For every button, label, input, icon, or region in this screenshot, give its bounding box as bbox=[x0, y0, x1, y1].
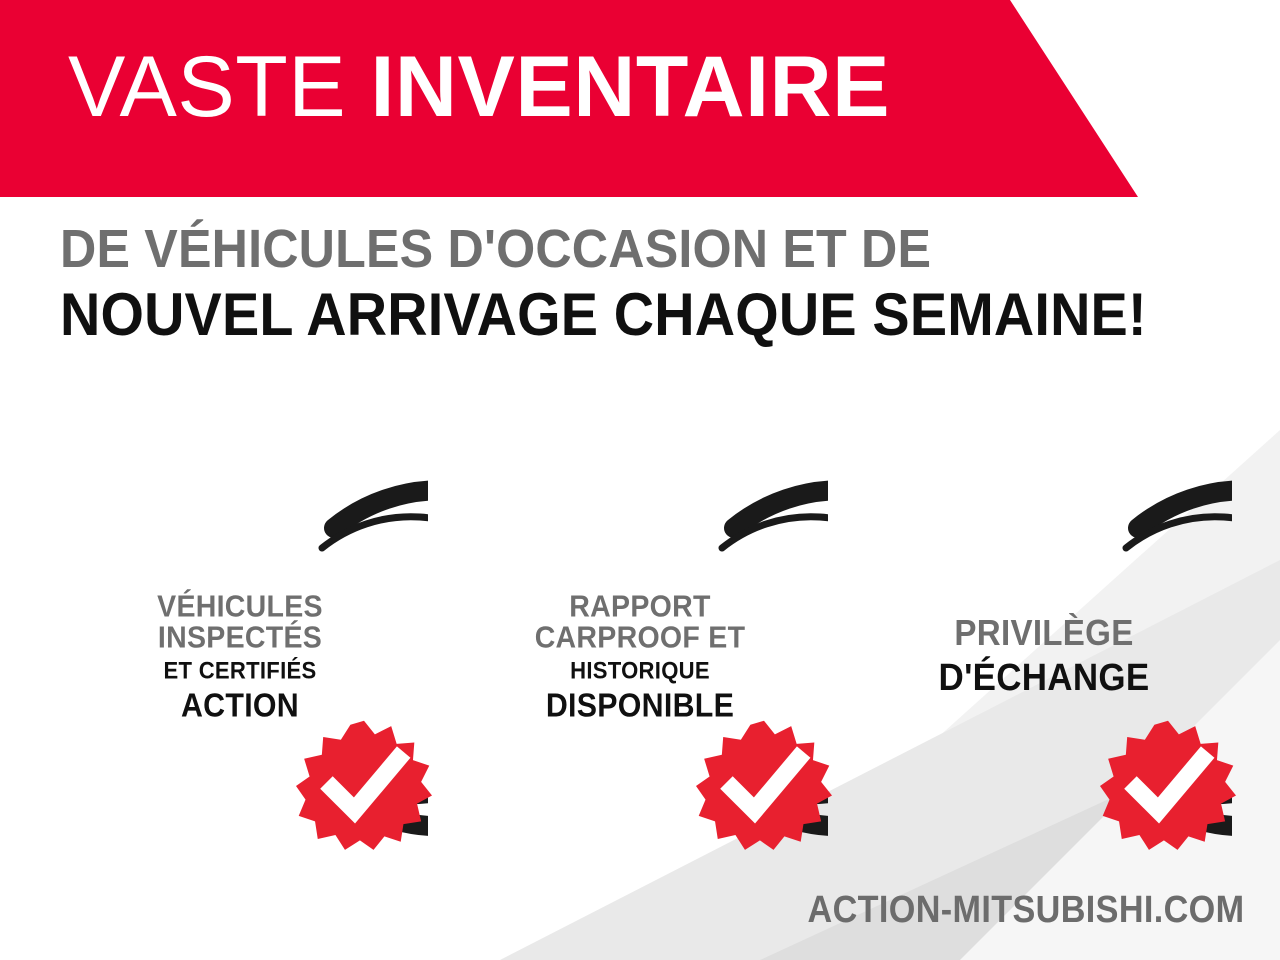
headline-banner: VASTE INVENTAIRE bbox=[0, 0, 1180, 197]
promo-banner-graphic: VASTE INVENTAIRE DE VÉHICULES D'OCCASION… bbox=[0, 0, 1280, 960]
badge-line-1: RAPPORT bbox=[525, 591, 755, 622]
badge-line-3: ET CERTIFIÉS bbox=[125, 660, 355, 684]
badge-text-block: RAPPORT CARPROOF ET HISTORIQUE DISPONIBL… bbox=[515, 591, 765, 722]
badge-vehicules-inspectes: VÉHICULES INSPECTÉS ET CERTIFIÉS ACTION bbox=[52, 468, 428, 844]
check-seal-icon bbox=[1100, 718, 1236, 854]
badge-line-1: PRIVILÈGE bbox=[929, 615, 1159, 651]
subheading-line-1: DE VÉHICULES D'OCCASION ET DE bbox=[60, 222, 1147, 277]
badge-line-4: ACTION bbox=[125, 689, 355, 722]
badge-rapport-carproof: RAPPORT CARPROOF ET HISTORIQUE DISPONIBL… bbox=[452, 468, 828, 844]
badge-line-3: HISTORIQUE bbox=[525, 660, 755, 684]
badge-text-block: VÉHICULES INSPECTÉS ET CERTIFIÉS ACTION bbox=[115, 591, 365, 722]
subheading-line-2: NOUVEL ARRIVAGE CHAQUE SEMAINE! bbox=[60, 283, 1147, 346]
banner-title-bold: INVENTAIRE bbox=[371, 39, 890, 135]
subheading-block: DE VÉHICULES D'OCCASION ET DE NOUVEL ARR… bbox=[60, 222, 1229, 346]
website-url: ACTION-MITSUBISHI.COM bbox=[807, 889, 1244, 932]
check-seal-icon bbox=[696, 718, 832, 854]
badge-line-2: INSPECTÉS bbox=[125, 622, 355, 653]
banner-title: VASTE INVENTAIRE bbox=[68, 44, 890, 130]
badge-line-4: DISPONIBLE bbox=[525, 689, 755, 722]
badge-row: VÉHICULES INSPECTÉS ET CERTIFIÉS ACTION … bbox=[0, 468, 1280, 860]
badge-line-1: VÉHICULES bbox=[125, 591, 355, 622]
badge-line-4: D'ÉCHANGE bbox=[929, 659, 1159, 697]
banner-title-light: VASTE bbox=[68, 39, 346, 135]
badge-privilege-echange: PRIVILÈGE D'ÉCHANGE bbox=[856, 468, 1232, 844]
badge-line-2: CARPROOF ET bbox=[525, 622, 755, 653]
check-seal-icon bbox=[296, 718, 432, 854]
badge-text-block: PRIVILÈGE D'ÉCHANGE bbox=[919, 615, 1169, 697]
